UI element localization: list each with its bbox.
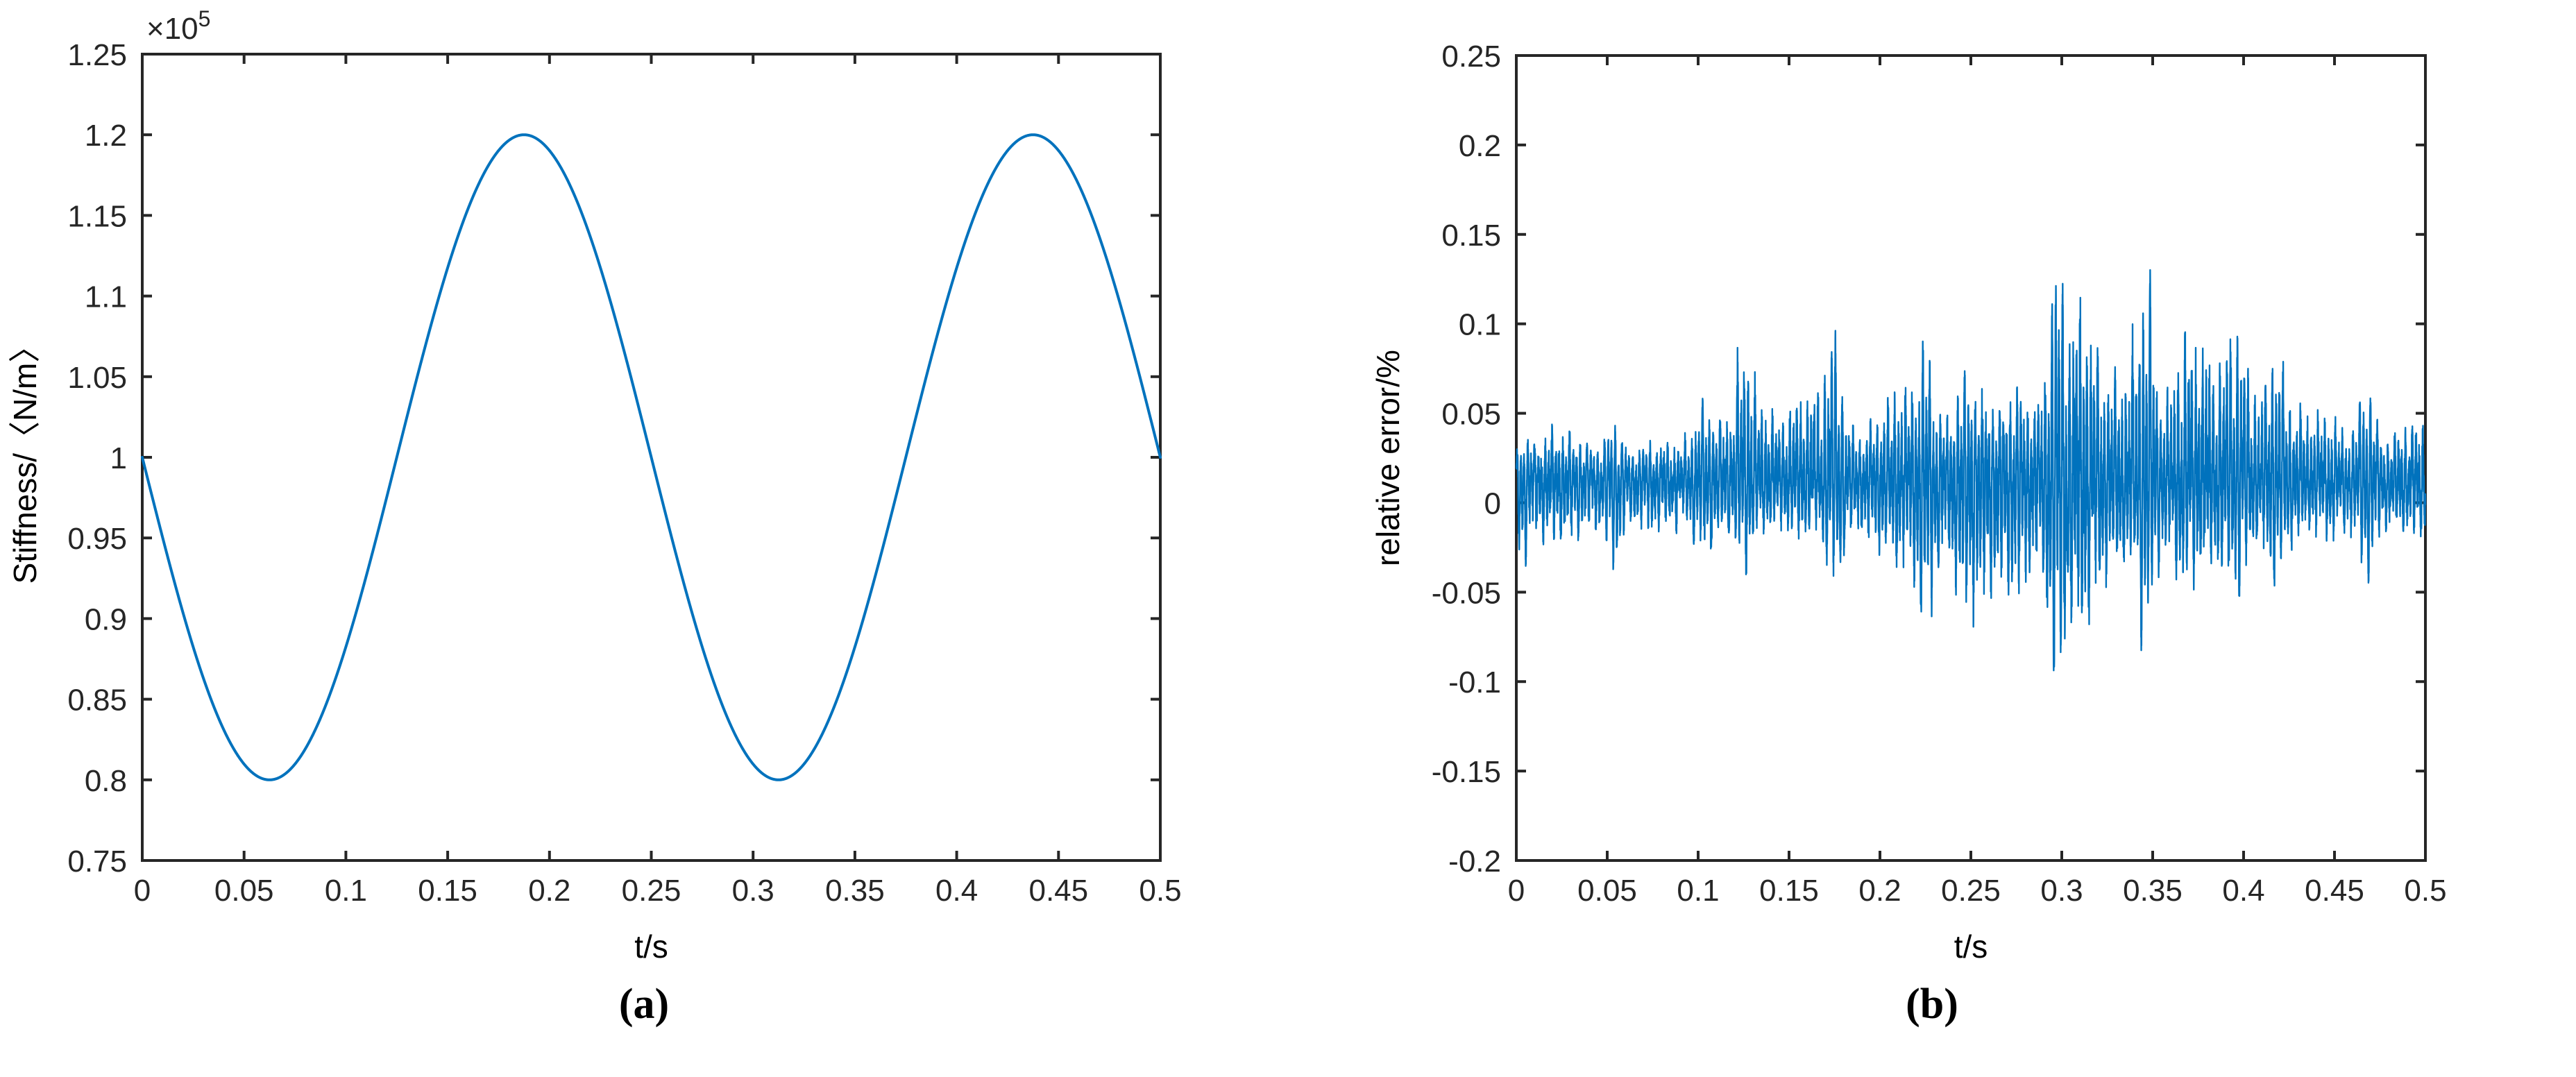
x-tick-label: 0 xyxy=(1508,874,1525,908)
y-axis-title: Stiffness/〈N/m〉 xyxy=(7,331,43,584)
panel-b-caption: (b) xyxy=(1288,980,2576,1029)
x-tick-label: 0 xyxy=(134,874,151,908)
y-tick-label: 1.2 xyxy=(85,119,127,153)
x-tick-label: 0.25 xyxy=(1941,874,2001,908)
stiffness-curve xyxy=(142,135,1160,780)
x-tick-label: 0.45 xyxy=(1028,874,1088,908)
y-tick-label: 0.85 xyxy=(67,684,127,718)
x-tick-label: 0.25 xyxy=(622,874,681,908)
y-axis-exponent: ×105 xyxy=(146,6,210,46)
x-tick-label: 0.3 xyxy=(732,874,774,908)
x-tick-label: 0.2 xyxy=(1858,874,1901,908)
x-tick-label: 0.45 xyxy=(2305,874,2364,908)
relative-error-curve xyxy=(1516,270,2425,670)
y-tick-label: 0.9 xyxy=(85,602,127,636)
x-tick-label: 0.3 xyxy=(2040,874,2083,908)
y-tick-label: -0.15 xyxy=(1432,755,1501,789)
x-tick-label: 0.5 xyxy=(2404,874,2446,908)
x-tick-label: 0.15 xyxy=(1759,874,1819,908)
x-tick-label: 0.2 xyxy=(528,874,570,908)
y-tick-label: 1.25 xyxy=(67,38,127,72)
x-tick-label: 0.1 xyxy=(1677,874,1719,908)
x-tick-label: 0.5 xyxy=(1139,874,1181,908)
stiffness-plot: 00.050.10.150.20.250.30.350.40.450.50.75… xyxy=(0,0,1288,985)
y-tick-label: 0.75 xyxy=(67,845,127,879)
y-tick-label: 0.2 xyxy=(1459,129,1501,163)
y-tick-label: -0.2 xyxy=(1448,845,1501,879)
y-tick-label: 1 xyxy=(110,441,127,475)
x-tick-label: 0.4 xyxy=(935,874,978,908)
panel-b: 00.050.10.150.20.250.30.350.40.450.5-0.2… xyxy=(1288,0,2576,1077)
y-tick-label: 1.1 xyxy=(85,280,127,314)
relative-error-plot: 00.050.10.150.20.250.30.350.40.450.5-0.2… xyxy=(1288,0,2576,985)
x-tick-label: 0.05 xyxy=(1577,874,1637,908)
y-tick-label: -0.05 xyxy=(1432,576,1501,610)
panel-a-caption: (a) xyxy=(0,980,1288,1029)
y-tick-label: -0.1 xyxy=(1448,665,1501,699)
y-tick-label: 0.15 xyxy=(1441,219,1501,253)
y-tick-label: 0.1 xyxy=(1459,308,1501,342)
y-tick-label: 0.05 xyxy=(1441,398,1501,432)
y-tick-label: 0.95 xyxy=(67,522,127,556)
y-tick-label: 1.15 xyxy=(67,199,127,233)
x-axis-title: t/s xyxy=(634,928,668,965)
y-tick-label: 0.8 xyxy=(85,764,127,798)
panel-a: 00.050.10.150.20.250.30.350.40.450.50.75… xyxy=(0,0,1288,1077)
y-tick-label: 0.25 xyxy=(1441,40,1501,74)
x-axis-title: t/s xyxy=(1954,928,1988,965)
figure-root: 00.050.10.150.20.250.30.350.40.450.50.75… xyxy=(0,0,2576,1077)
x-tick-label: 0.15 xyxy=(418,874,477,908)
y-tick-label: 1.05 xyxy=(67,361,127,395)
x-tick-label: 0.35 xyxy=(825,874,885,908)
x-tick-label: 0.35 xyxy=(2123,874,2183,908)
y-tick-label: 0 xyxy=(1484,486,1501,520)
y-axis-title: relative error/% xyxy=(1370,350,1406,566)
x-tick-label: 0.1 xyxy=(325,874,367,908)
x-tick-label: 0.05 xyxy=(214,874,274,908)
x-tick-label: 0.4 xyxy=(2222,874,2264,908)
